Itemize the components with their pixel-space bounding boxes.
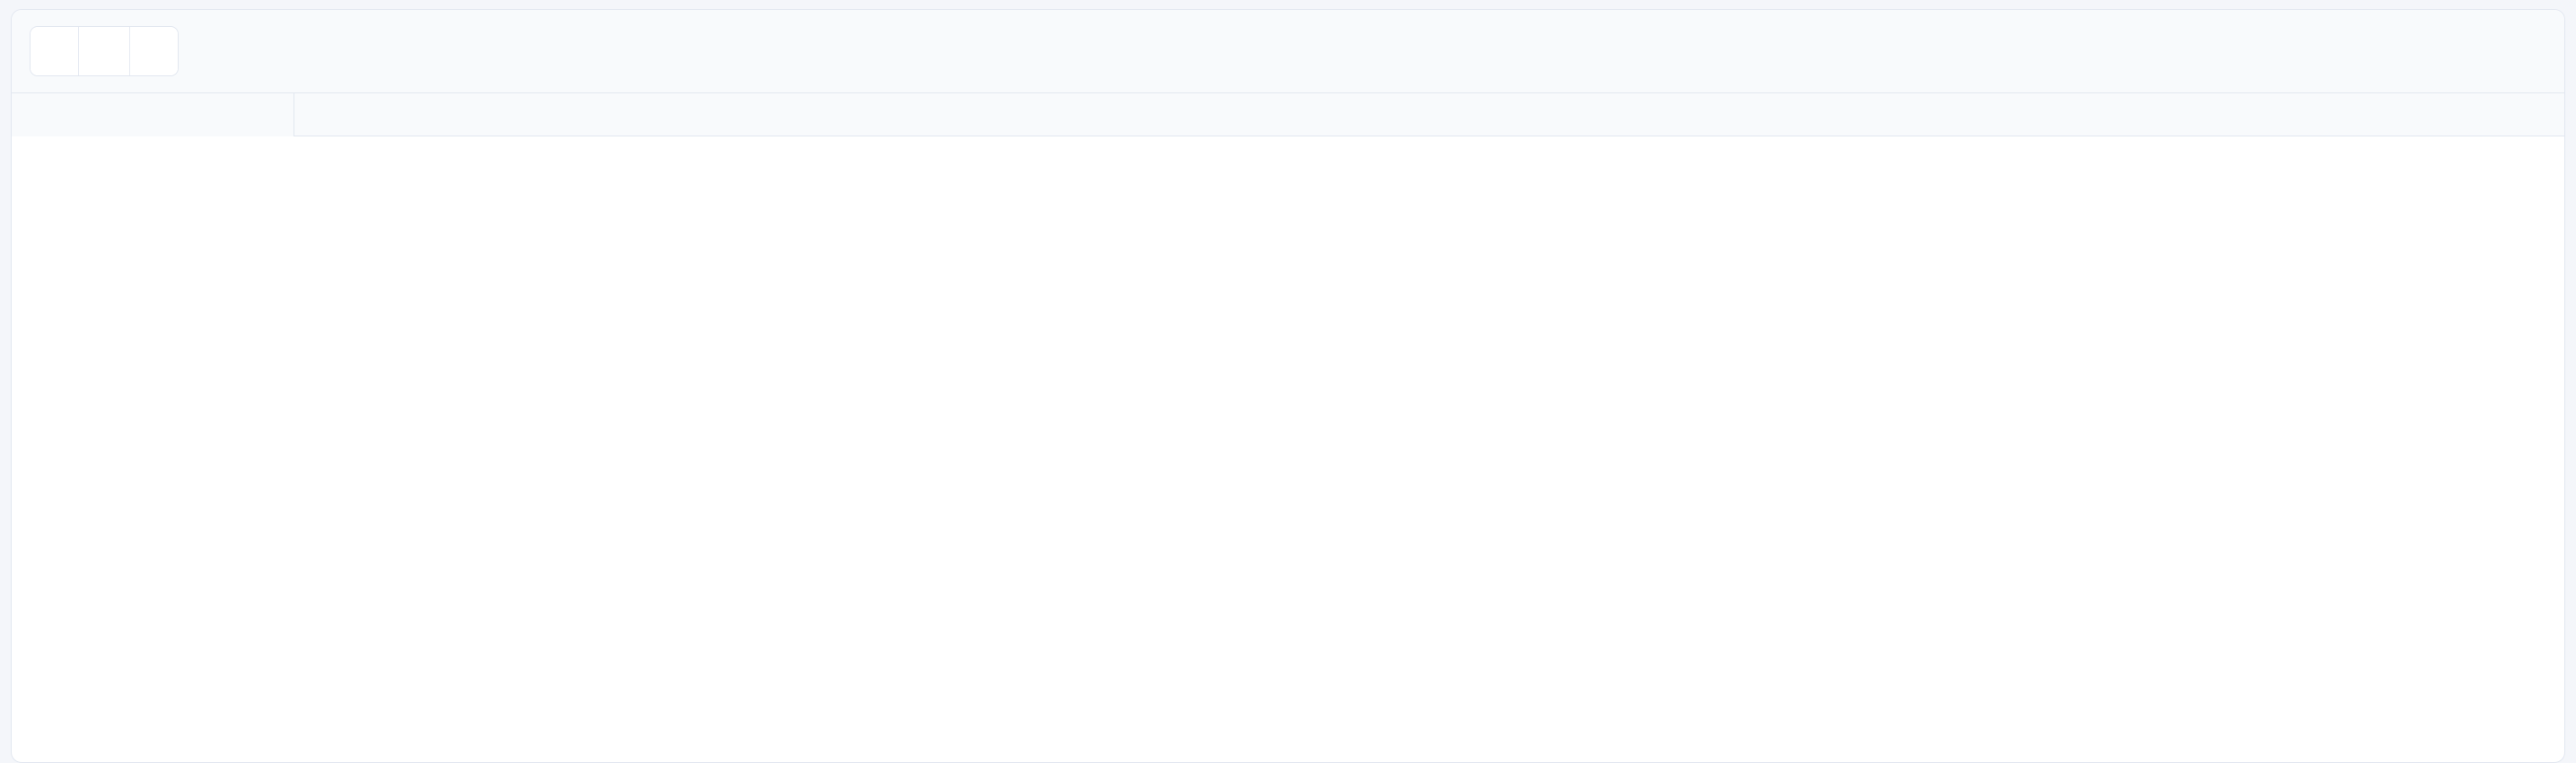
scheduler-panel: [11, 9, 2565, 763]
date-navigator: [30, 26, 179, 76]
timeline-grid: [12, 93, 2564, 763]
timeline-body: [12, 136, 2564, 763]
next-day-button[interactable]: [129, 26, 178, 76]
toolbar: [12, 10, 2564, 93]
scheduler-app: [0, 0, 2576, 763]
prev-day-button[interactable]: [31, 26, 79, 76]
time-axis-header: [12, 93, 2564, 136]
time-axis-corner: [12, 93, 294, 136]
